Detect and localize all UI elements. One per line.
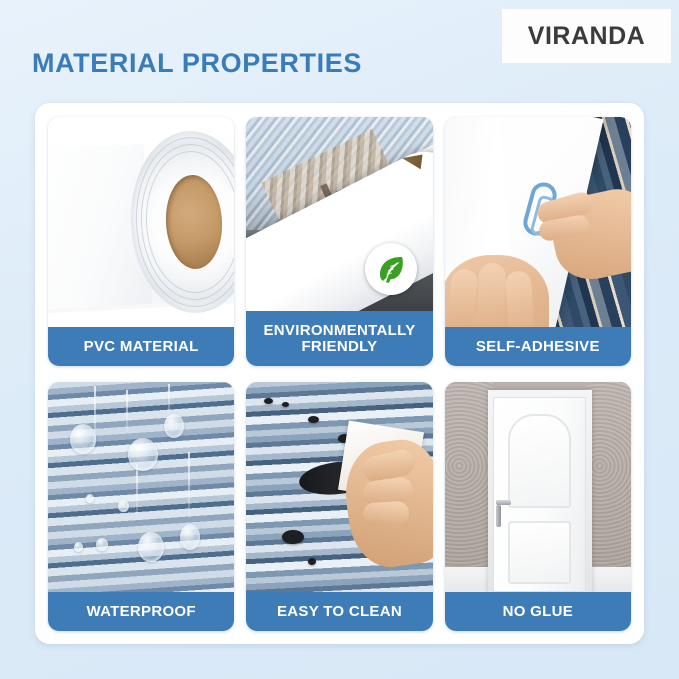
stain-spot-6 [308, 558, 316, 565]
feature-card-waterproof[interactable]: WATERPROOF [48, 382, 234, 631]
water-droplet-9 [86, 494, 94, 503]
easy-to-clean-image [246, 382, 432, 592]
water-trail-3 [168, 384, 170, 414]
water-droplet-7 [96, 538, 108, 551]
feature-label-easy-to-clean: EASY TO CLEAN [246, 592, 432, 631]
pvc-roll-image [48, 117, 234, 327]
wall-left [445, 382, 493, 592]
feature-card-environmentally-friendly[interactable]: ENVIRONMENTALLY FRIENDLY [246, 117, 432, 366]
door-panel-top [508, 414, 571, 509]
self-adhesive-image [445, 117, 631, 327]
brand-logo: VIRANDA [503, 10, 670, 62]
page-header: MATERIAL PROPERTIES VIRANDA [0, 0, 679, 103]
stain-spot-5 [282, 530, 304, 544]
stain-spot-2 [282, 402, 289, 407]
water-droplet-5 [180, 524, 200, 550]
features-grid: PVC MATERIAL [48, 117, 631, 631]
feature-label-environmentally-friendly: ENVIRONMENTALLY FRIENDLY [246, 311, 432, 366]
door-handle-icon [496, 500, 511, 505]
water-droplet-8 [118, 500, 129, 512]
feature-label-no-glue: NO GLUE [445, 592, 631, 631]
wall-right [586, 382, 631, 592]
door-panel-bottom [508, 521, 571, 584]
water-droplet-4 [138, 532, 164, 562]
feature-card-easy-to-clean[interactable]: EASY TO CLEAN [246, 382, 432, 631]
stain-spot-1 [264, 398, 273, 404]
leaf-icon [365, 243, 417, 295]
eco-peel-image [246, 117, 432, 311]
left-hand-finger-3 [504, 270, 535, 327]
feature-card-pvc-material[interactable]: PVC MATERIAL [48, 117, 234, 366]
feature-label-line-2: FRIENDLY [301, 338, 377, 355]
water-trail-5 [188, 452, 190, 518]
water-droplet-1 [70, 424, 96, 454]
no-glue-image [445, 382, 631, 592]
feature-label-waterproof: WATERPROOF [48, 592, 234, 631]
water-trail-4 [136, 464, 138, 516]
water-trail-2 [126, 390, 128, 432]
feature-label-line-1: ENVIRONMENTALLY [263, 322, 415, 339]
waterproof-image [48, 382, 234, 592]
feature-label-pvc-material: PVC MATERIAL [48, 327, 234, 366]
hand-finger-3 [362, 500, 409, 525]
feature-card-self-adhesive[interactable]: SELF-ADHESIVE [445, 117, 631, 366]
features-panel: PVC MATERIAL [35, 103, 644, 644]
water-droplet-6 [74, 542, 83, 552]
feature-label-self-adhesive: SELF-ADHESIVE [445, 327, 631, 366]
left-hand-finger-2 [476, 263, 506, 327]
feature-card-no-glue[interactable]: NO GLUE [445, 382, 631, 631]
page-title: MATERIAL PROPERTIES [32, 48, 362, 79]
stain-spot-3 [308, 416, 319, 423]
brand-logo-text: VIRANDA [528, 22, 645, 51]
water-droplet-2 [128, 438, 158, 471]
water-droplet-3 [164, 414, 184, 438]
